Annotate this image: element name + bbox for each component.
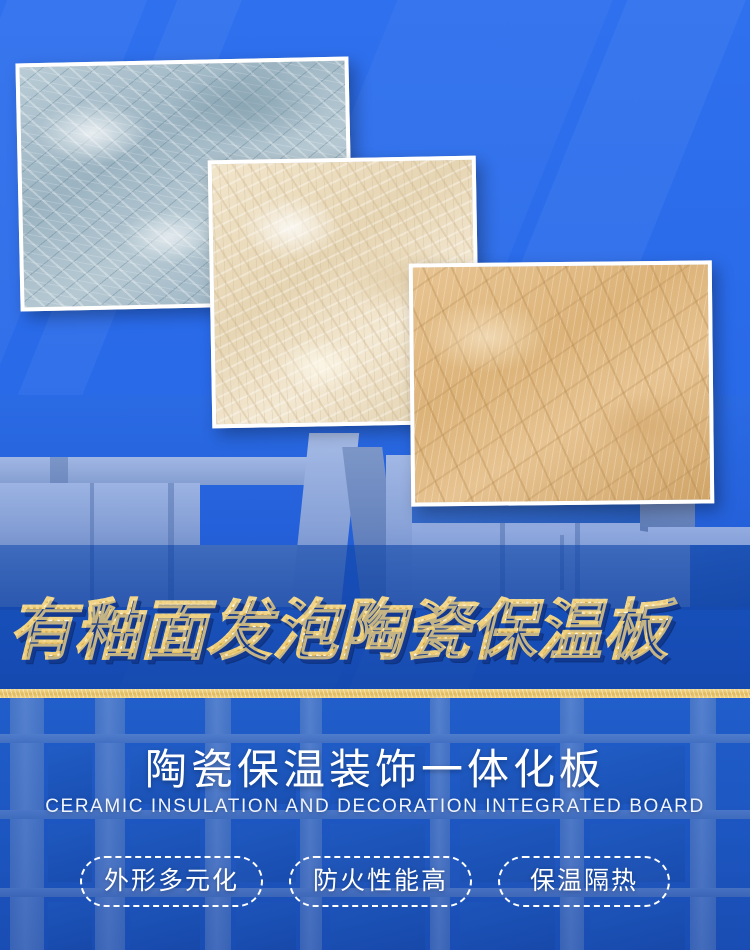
gold-divider [0, 689, 750, 698]
feature-badge-fireproof[interactable]: 防火性能高 [289, 856, 472, 907]
product-subtitle-cn: 陶瓷保温装饰一体化板 [0, 736, 750, 797]
product-subtitle-en: CERAMIC INSULATION AND DECORATION INTEGR… [0, 796, 750, 818]
feature-badge-shape[interactable]: 外形多元化 [80, 856, 263, 907]
tan-marble-tile[interactable] [409, 260, 715, 506]
product-title-text: 有釉面发泡陶瓷保温板 [8, 597, 668, 663]
product-title: 有釉面发泡陶瓷保温板 [8, 588, 750, 672]
tile-texture [413, 264, 710, 502]
product-banner: 有釉面发泡陶瓷保温板 陶瓷保温装饰一体化板 [0, 0, 750, 950]
feature-badge-list: 外形多元化 防火性能高 保温隔热 [0, 856, 750, 907]
feature-badge-insulation[interactable]: 保温隔热 [498, 856, 670, 907]
